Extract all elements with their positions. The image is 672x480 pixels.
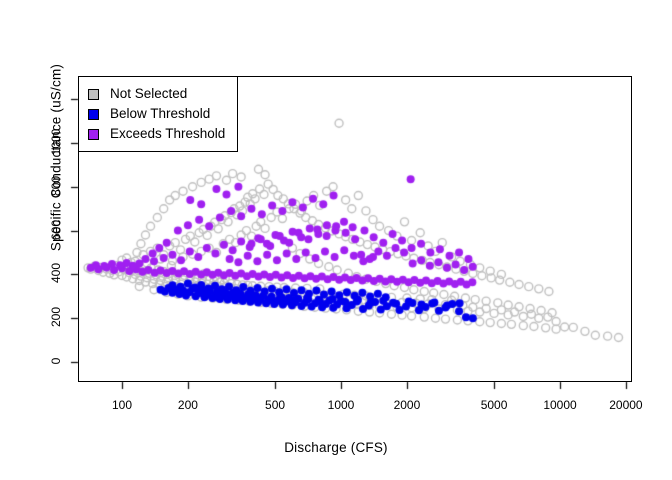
legend-swatch-not-selected: [88, 89, 99, 100]
chart-figure: Specific Conductance (uS/cm) Discharge (…: [0, 0, 672, 480]
x-tick-10000: 10000: [525, 398, 595, 412]
y-tick-400: 400: [49, 251, 63, 295]
y-tick-800: 800: [49, 164, 63, 208]
x-tick-1000: 1000: [306, 398, 376, 412]
x-tick-20000: 20000: [591, 398, 661, 412]
legend-item-exceeds-threshold: Exceeds Threshold: [88, 124, 225, 144]
legend-swatch-below-threshold: [88, 109, 99, 120]
legend-label-exceeds-threshold: Exceeds Threshold: [110, 127, 225, 141]
legend-swatch-exceeds-threshold: [88, 129, 99, 140]
x-tick-100: 100: [87, 398, 157, 412]
legend-label-below-threshold: Below Threshold: [110, 107, 210, 121]
x-tick-2000: 2000: [372, 398, 442, 412]
x-axis-title: Discharge (CFS): [0, 440, 672, 455]
legend-item-not-selected: Not Selected: [88, 84, 225, 104]
x-tick-200: 200: [153, 398, 223, 412]
y-tick-1000: 1000: [49, 120, 63, 164]
x-tick-5000: 5000: [459, 398, 529, 412]
legend-label-not-selected: Not Selected: [110, 87, 187, 101]
y-tick-0: 0: [49, 339, 63, 383]
y-tick-600: 600: [49, 208, 63, 252]
legend-item-below-threshold: Below Threshold: [88, 104, 225, 124]
y-tick-200: 200: [49, 295, 63, 339]
chart-legend: Not Selected Below Threshold Exceeds Thr…: [78, 76, 238, 152]
x-tick-500: 500: [240, 398, 310, 412]
